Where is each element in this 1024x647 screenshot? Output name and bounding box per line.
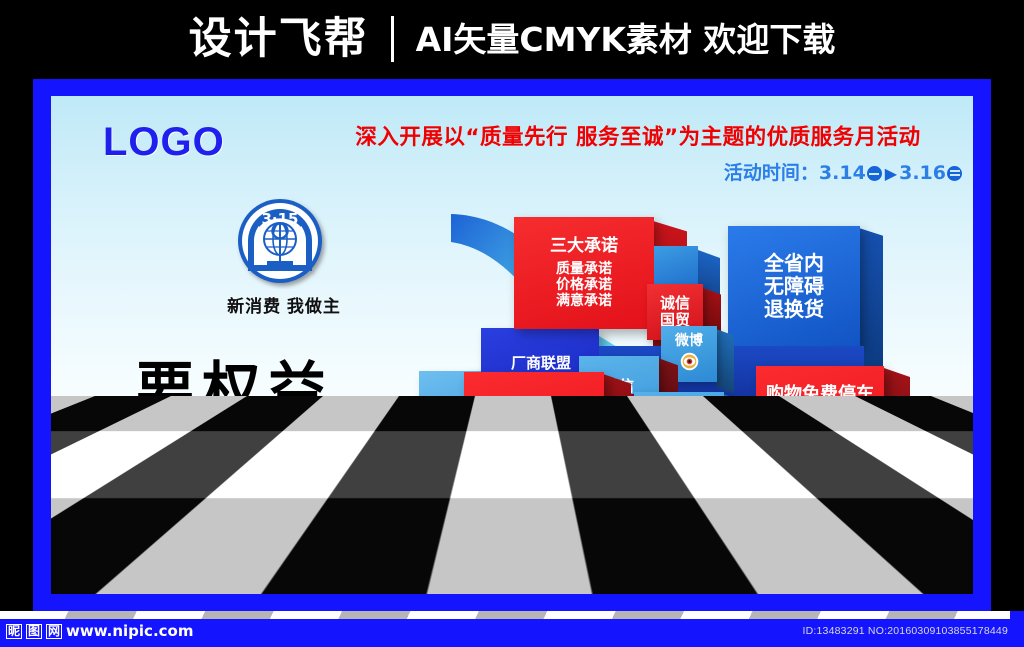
poster-content: LOGO 深入开展以“质量先行 服务至诚”为主题的优质服务月活动 活动时间：3.… [51, 96, 973, 594]
block-line-2: 价格承诺 [556, 277, 612, 293]
block-line-1: 全省内 [764, 252, 824, 275]
block-label: 微博 [675, 333, 703, 349]
block-line-2: 服务名牌 [643, 436, 715, 457]
block-shandong-brand[interactable]: 山东省 服务名牌 [634, 392, 724, 480]
page-headline: 深入开展以“质量先行 服务至诚”为主题的优质服务月活动 [313, 120, 963, 151]
event-time-label: 活动时间： [724, 162, 819, 184]
block-line-1: 中国名店 [496, 406, 572, 428]
footer-right-edge [1010, 611, 1024, 647]
poster-blue-frame: LOGO 深入开展以“质量先行 服务至诚”为主题的优质服务月活动 活动时间：3.… [33, 79, 991, 611]
nipic-char-2: 图 [26, 624, 42, 639]
block-china-famous-store[interactable]: 中国名店 全国诚信单位 [464, 372, 604, 484]
block-china-famous-store-side [603, 374, 631, 502]
footer-bar: 昵 图 网 www.nipic.com ID:13483291 NO:20160… [0, 611, 1024, 647]
block-free-parking[interactable]: 购物免费停车 P [756, 366, 884, 482]
block-line-1: 诚信 [660, 295, 690, 312]
315-logo-caption: 新消费 我做主 [199, 292, 369, 317]
poster-canvas: 设计飞帮 AI矢量CMYK素材 欢迎下载 LOGO 深入开展以“质量先行 服务至… [0, 0, 1024, 647]
day-glyph-icon [867, 166, 882, 181]
block-title: 三大承诺 [550, 237, 618, 257]
3d-block-cluster: 厂商联盟 三大承诺 质量承诺 价格承诺 满意承诺 诚信 国贸 [421, 216, 973, 506]
event-time-start: 3.14 [819, 162, 866, 184]
block-line-2: 全国诚信单位 [477, 428, 591, 450]
nipic-char-3: 网 [46, 624, 62, 639]
bottom-slogan-blue: 真情会员大回馈 [151, 531, 466, 591]
top-banner: 设计飞帮 AI矢量CMYK素材 欢迎下载 [0, 0, 1024, 78]
block-line-3: 满意承诺 [556, 293, 612, 309]
block-weibo-side [716, 329, 734, 394]
block-shandong-brand-side [723, 394, 745, 494]
bottom-slogan-black: 春季会员节启幕 [537, 539, 796, 587]
block-province-return[interactable]: 全省内 无障碍 退换货 [728, 226, 860, 346]
block-line-2: 无障碍 [764, 275, 824, 298]
banner-subtitle: AI矢量CMYK素材 欢迎下载 [416, 23, 836, 56]
weibo-icon [680, 352, 699, 375]
block-free-parking-side [884, 368, 910, 499]
block-line-1: 质量承诺 [556, 261, 612, 277]
banner-divider [391, 16, 394, 62]
event-time: 活动时间：3.14▶3.16 [313, 158, 963, 185]
nipic-url: www.nipic.com [66, 622, 193, 640]
site-brand-title: 设计飞帮 [189, 18, 369, 61]
car-icon [815, 437, 853, 459]
block-label: 厂商联盟 [511, 355, 571, 372]
315-consumer-rights-logo: 3·15 [236, 197, 328, 289]
slogan-line-2: 更要狂欢 [103, 414, 375, 513]
event-time-end: 3.16 [899, 162, 946, 184]
nipic-char-1: 昵 [6, 624, 22, 639]
nipic-watermark: 昵 图 网 www.nipic.com [6, 622, 193, 640]
arrow-right-icon: ▶ [885, 164, 897, 183]
block-line-3: 退换货 [764, 298, 824, 321]
image-id-text: ID:13483291 NO:20160309103855178449 [802, 625, 1008, 637]
block-line-1: 山东省 [652, 415, 706, 436]
block-three-promises[interactable]: 三大承诺 质量承诺 价格承诺 满意承诺 [514, 217, 654, 329]
day-glyph-icon-2 [947, 166, 962, 181]
client-logo-placeholder: LOGO [103, 120, 225, 165]
parking-icon: P [789, 407, 851, 463]
